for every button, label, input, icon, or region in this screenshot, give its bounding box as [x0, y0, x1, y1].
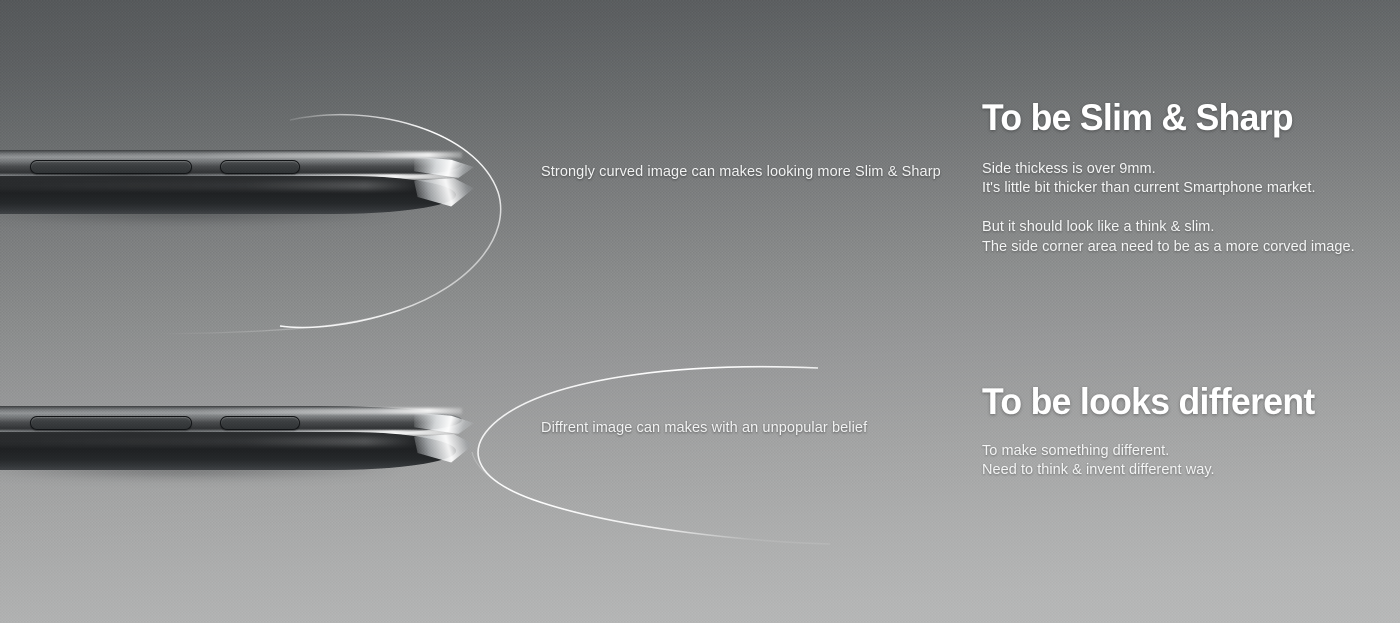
headline-slim-sharp: To be Slim & Sharp: [982, 99, 1366, 138]
paragraph-appearance: But it should look like a think & slim. …: [982, 218, 1382, 257]
caption-looks-different: Diffrent image can makes with an unpopul…: [541, 420, 867, 436]
tip-upper-facet: [414, 408, 474, 434]
poster-canvas: Strongly curved image can makes looking …: [0, 0, 1400, 623]
phone-body: [0, 176, 456, 214]
paragraph-thickness: Side thickess is over 9mm. It's little b…: [982, 160, 1382, 199]
paragraph-line: But it should look like a think & slim.: [982, 219, 1214, 235]
tip-lower-facet: [414, 434, 474, 468]
tip-upper-facet: [414, 152, 474, 178]
phone-device-1: [0, 150, 498, 222]
paragraph-line: The side corner area need to be as a mor…: [982, 239, 1355, 255]
volume-rocker-button: [30, 160, 192, 174]
tip-lower-facet: [414, 178, 474, 212]
paragraph-different: To make something different. Need to thi…: [982, 442, 1382, 481]
text-block-looks-different: To be looks different To make something …: [982, 383, 1382, 480]
volume-rocker-button: [30, 416, 192, 430]
paragraph-line: To make something different.: [982, 443, 1169, 459]
text-block-slim-sharp: To be Slim & Sharp Side thickess is over…: [982, 99, 1382, 257]
caption-slim-sharp: Strongly curved image can makes looking …: [541, 164, 941, 180]
phone-corner-tip-highlight: [414, 408, 476, 472]
paragraph-line: It's little bit thicker than current Sma…: [982, 180, 1316, 196]
phone-body: [0, 432, 456, 470]
headline-looks-different: To be looks different: [982, 383, 1366, 422]
film-grain-overlay: [0, 0, 1400, 623]
power-button: [220, 416, 300, 430]
paragraph-line: Need to think & invent different way.: [982, 462, 1215, 478]
paragraph-line: Side thickess is over 9mm.: [982, 161, 1156, 177]
phone-corner-tip-highlight: [414, 152, 476, 216]
power-button: [220, 160, 300, 174]
phone-device-2: [0, 406, 498, 478]
